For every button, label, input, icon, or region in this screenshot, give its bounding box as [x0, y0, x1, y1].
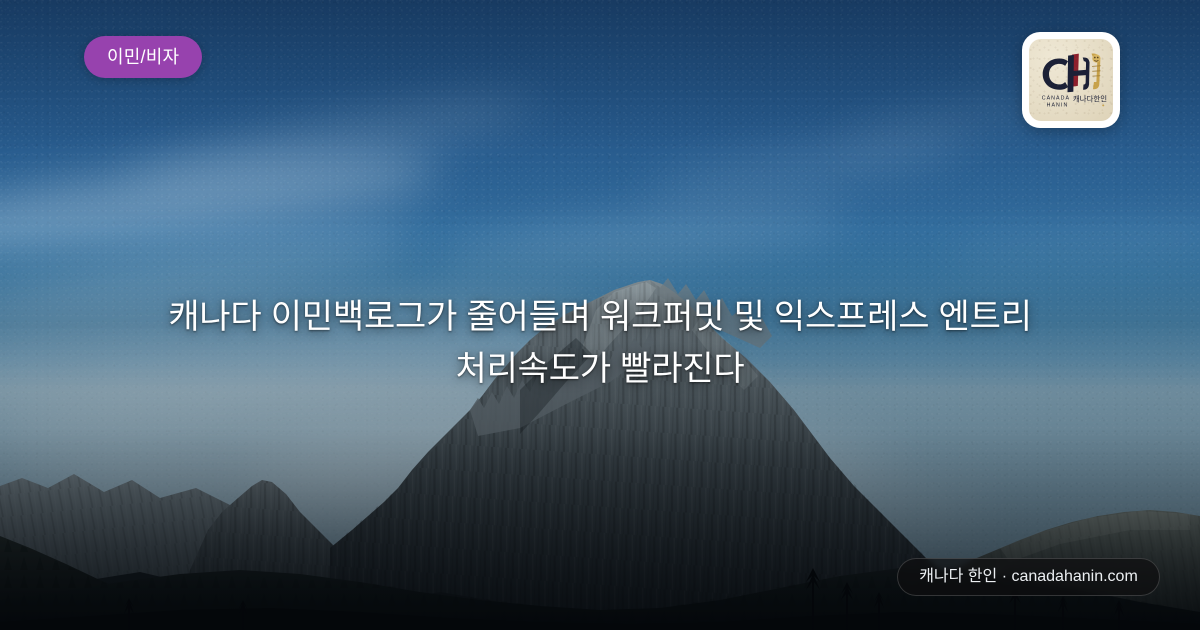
site-attribution-pill[interactable]: 캐나다 한인 · canadahanin.com — [897, 558, 1160, 596]
category-badge[interactable]: 이민/비자 — [84, 36, 202, 78]
logo-latin-line-2: HANIN — [1047, 102, 1069, 108]
brand-logo-mark: CANADA HANIN 캐나다한인 — [1029, 39, 1113, 121]
headline-line-2: 처리속도가 빨라진다 — [456, 350, 745, 388]
ch-monogram-icon: CANADA HANIN 캐나다한인 — [1029, 39, 1113, 121]
category-badge-label: 이민/비자 — [107, 48, 179, 66]
headline-line-1: 캐나다 이민백로그가 줄어들며 워크퍼밋 및 익스프레스 엔트리 — [168, 298, 1032, 336]
og-share-card: 이민/비자 — [0, 0, 1200, 630]
site-attribution-label: 캐나다 한인 · canadahanin.com — [919, 569, 1138, 585]
logo-korean-text: 캐나다한인 — [1073, 93, 1107, 103]
brand-logo-tile[interactable]: CANADA HANIN 캐나다한인 — [1022, 32, 1120, 128]
logo-latin-line-1: CANADA — [1042, 96, 1070, 102]
headline-title: 캐나다 이민백로그가 줄어들며 워크퍼밋 및 익스프레스 엔트리 처리속도가 빨… — [96, 292, 1104, 395]
